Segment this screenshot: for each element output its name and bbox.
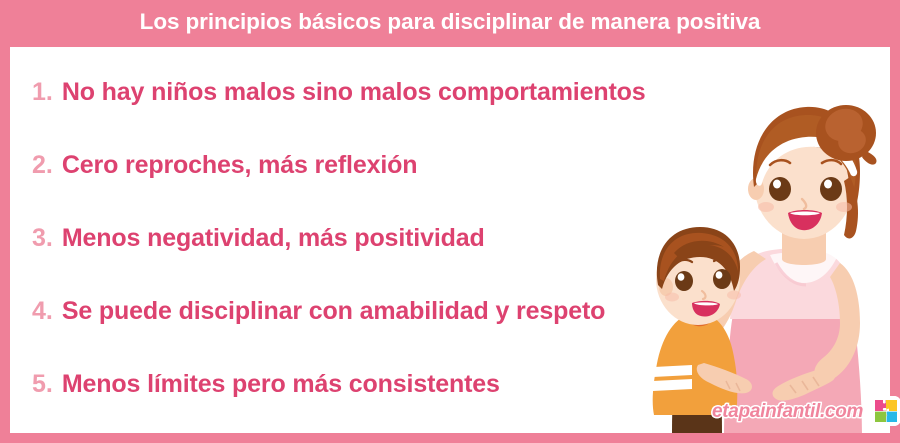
- list-item-label: Cero reproches, más reflexión: [62, 153, 418, 178]
- list-item: 2. Cero reproches, más reflexión: [32, 153, 417, 187]
- watermark: etapainfantil.com: [712, 396, 900, 426]
- list-item-number: 1.: [32, 80, 53, 105]
- principles-list: 1. No hay niños malos sino malos comport…: [10, 47, 890, 433]
- header-band: Los principios básicos para disciplinar …: [0, 0, 900, 47]
- puzzle-piece-bottom-left: [875, 412, 886, 422]
- content-card: 1. No hay niños malos sino malos comport…: [10, 47, 890, 433]
- watermark-label: etapainfantil.com: [712, 402, 863, 421]
- puzzle-logo-icon: [871, 396, 900, 426]
- list-item: 4. Se puede disciplinar con amabilidad y…: [32, 299, 605, 333]
- list-item-label: Se puede disciplinar con amabilidad y re…: [62, 299, 605, 324]
- list-item-label: Menos negatividad, más positividad: [62, 226, 485, 251]
- infographic-container: Los principios básicos para disciplinar …: [0, 0, 900, 443]
- puzzle-piece-bottom-right: [887, 412, 897, 422]
- list-item-label: Menos límites pero más consistentes: [62, 372, 500, 397]
- list-item: 5. Menos límites pero más consistentes: [32, 372, 500, 406]
- list-item-number: 3.: [32, 226, 53, 251]
- list-item-number: 2.: [32, 153, 53, 178]
- list-item: 3. Menos negatividad, más positividad: [32, 226, 485, 260]
- list-item: 1. No hay niños malos sino malos comport…: [32, 80, 646, 114]
- page-title: Los principios básicos para disciplinar …: [140, 11, 761, 36]
- list-item-label: No hay niños malos sino malos comportami…: [62, 80, 646, 105]
- list-item-number: 4.: [32, 299, 53, 324]
- list-item-number: 5.: [32, 372, 53, 397]
